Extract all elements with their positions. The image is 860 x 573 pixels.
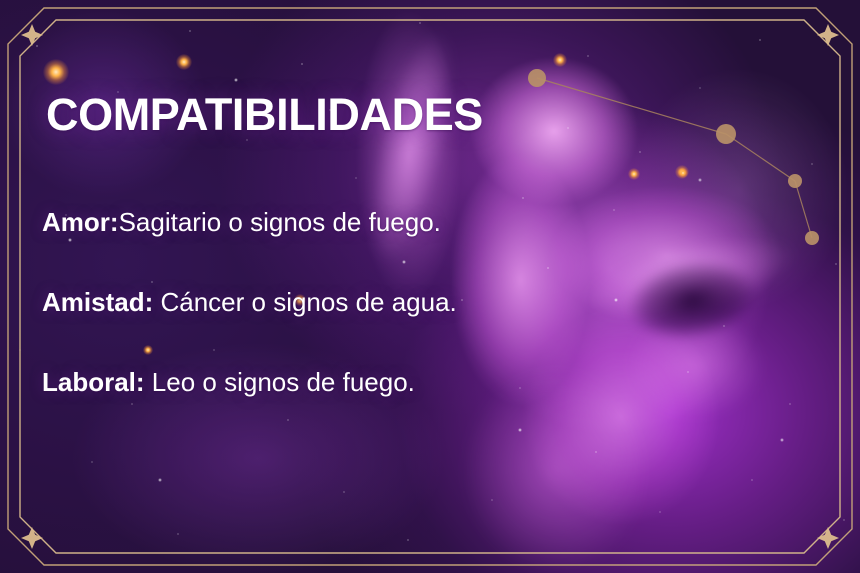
page-title: COMPATIBILIDADES [46,92,483,137]
compatibility-value-amor: Sagitario o signos de fuego. [119,207,441,237]
compatibility-label-amistad: Amistad: [42,287,153,317]
compatibility-value-laboral: Leo o signos de fuego. [145,367,415,397]
horoscope-compatibility-card: COMPATIBILIDADES Amor:Sagitario o signos… [0,0,860,573]
card-content: COMPATIBILIDADES Amor:Sagitario o signos… [0,0,860,573]
compatibility-value-amistad: Cáncer o signos de agua. [153,287,457,317]
compatibility-row-amor: Amor:Sagitario o signos de fuego. [42,209,441,235]
compatibility-label-laboral: Laboral: [42,367,145,397]
compatibility-row-amistad: Amistad: Cáncer o signos de agua. [42,289,457,315]
compatibility-label-amor: Amor: [42,207,119,237]
compatibility-row-laboral: Laboral: Leo o signos de fuego. [42,369,415,395]
